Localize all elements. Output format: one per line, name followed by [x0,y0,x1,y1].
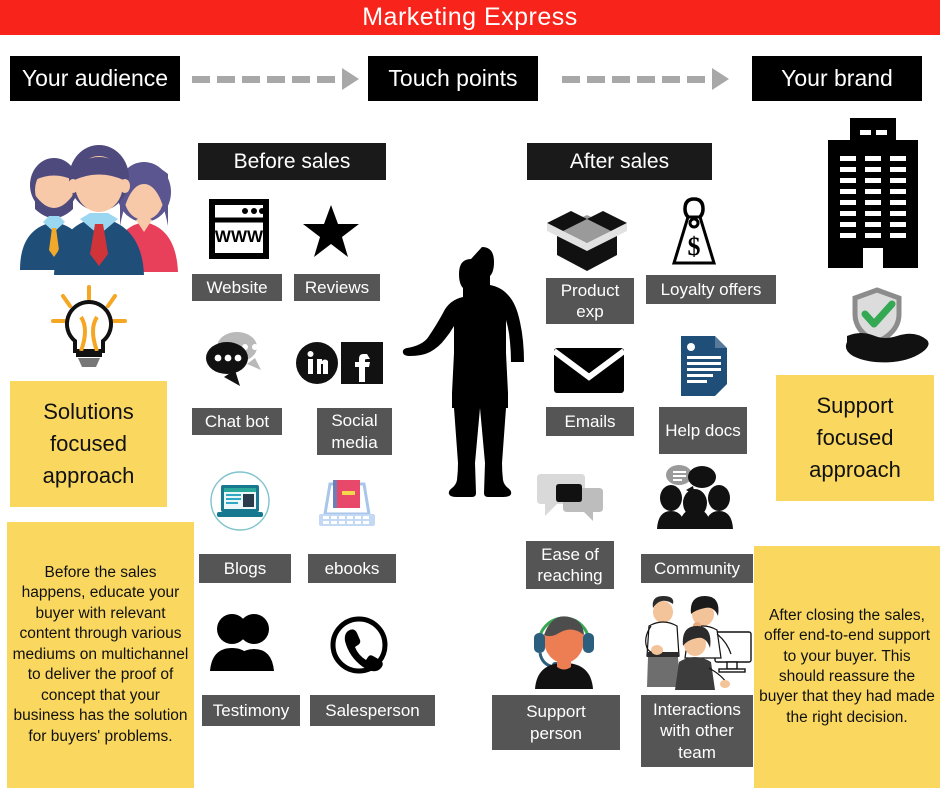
label-salesperson[interactable]: Salesperson [310,695,435,726]
item-label: Blogs [224,558,267,579]
flow-step-your-audience[interactable]: Your audience [10,56,180,101]
label-support-person[interactable]: Support person [492,695,620,750]
solutions-focused-headline: Solutions focused approach [10,396,167,492]
audience-group-icon [10,140,185,275]
page-title: Marketing Express [362,3,578,32]
arrow-head-icon [342,68,359,90]
flow-step-label: Your brand [781,65,893,92]
item-label: Social media [323,410,386,453]
arrow-dash [242,76,260,83]
svg-text:$: $ [688,232,701,261]
arrow-dash [317,76,335,83]
section-after-sales[interactable]: After sales [527,143,712,180]
flow-arrow-1 [192,68,359,90]
label-interactions-other-team[interactable]: Interactions with other team [641,695,753,767]
flow-arrow-2 [562,68,729,90]
section-label: After sales [570,150,669,174]
label-ease-of-reaching[interactable]: Ease of reaching [526,541,614,589]
arrow-dash [267,76,285,83]
browser-www-icon: WWW [210,200,268,258]
arrow-dash [637,76,655,83]
chat-bubbles-icon [205,330,273,390]
arrow-dash [217,76,235,83]
item-label: Support person [498,701,614,744]
label-product-exp[interactable]: Product exp [546,278,634,324]
flow-step-label: Your audience [22,65,168,92]
community-group-icon [657,465,733,529]
flow-step-your-brand[interactable]: Your brand [752,56,922,101]
section-label: Before sales [234,150,351,174]
item-label: Testimony [213,700,290,721]
laptop-book-icon [313,470,381,532]
arrow-dash [687,76,705,83]
label-community[interactable]: Community [641,554,753,583]
item-label: Reviews [305,277,369,298]
after-sales-description-panel: After closing the sales, offer end-to-en… [754,546,940,788]
arrow-dash [612,76,630,83]
item-label: ebooks [325,558,380,579]
item-label: Loyalty offers [661,279,762,300]
presenter-silhouette-icon [403,255,533,505]
label-emails[interactable]: Emails [546,407,634,436]
price-tag-dollar-icon: $ [666,195,722,267]
svg-text:WWW: WWW [215,227,264,246]
before-sales-description-panel: Before the sales happens, educate your b… [7,522,194,788]
support-focused-panel: Support focused approach [776,375,934,501]
shield-check-on-hand-icon [825,288,930,363]
document-icon [681,336,727,396]
item-label: Chat bot [205,411,269,432]
open-box-icon [545,197,629,273]
label-blogs[interactable]: Blogs [199,554,291,583]
label-social-media[interactable]: Social media [317,408,392,455]
item-label: Interactions with other team [647,699,747,763]
team-at-computer-icon [639,596,759,690]
label-ebooks[interactable]: ebooks [308,554,396,583]
envelope-icon [554,348,624,393]
item-label: Help docs [665,420,741,441]
office-building-icon [820,118,926,270]
arrow-dash [192,76,210,83]
label-testimony[interactable]: Testimony [202,695,300,726]
item-label: Emails [564,411,615,432]
item-label: Ease of reaching [532,544,608,587]
title-bar: Marketing Express [0,0,940,35]
flow-step-touch-points[interactable]: Touch points [368,56,538,101]
lightbulb-icon [50,285,128,370]
flow-step-label: Touch points [388,65,517,92]
item-label: Website [206,277,267,298]
label-website[interactable]: Website [192,274,282,301]
star-icon [303,205,359,259]
before-sales-description: Before the sales happens, educate your b… [12,563,189,747]
label-help-docs[interactable]: Help docs [659,407,747,454]
support-focused-headline: Support focused approach [776,390,934,486]
arrow-dash [662,76,680,83]
laptop-blog-icon [209,470,271,532]
solutions-focused-panel: Solutions focused approach [10,381,167,507]
arrow-dash [587,76,605,83]
item-label: Community [654,558,740,579]
arrow-dash [562,76,580,83]
after-sales-description: After closing the sales, offer end-to-en… [759,606,935,729]
two-people-icon [210,613,282,671]
headset-agent-icon [531,607,597,689]
linkedin-facebook-icon [297,341,383,385]
item-label: Salesperson [325,700,420,721]
arrow-dash [292,76,310,83]
label-chat-bot[interactable]: Chat bot [192,408,282,435]
phone-circle-icon [330,616,388,674]
speech-bubbles-icon [537,470,603,528]
section-before-sales[interactable]: Before sales [198,143,386,180]
arrow-head-icon [712,68,729,90]
label-loyalty-offers[interactable]: Loyalty offers [646,275,776,304]
item-label: Product exp [552,280,628,323]
label-reviews[interactable]: Reviews [294,274,380,301]
